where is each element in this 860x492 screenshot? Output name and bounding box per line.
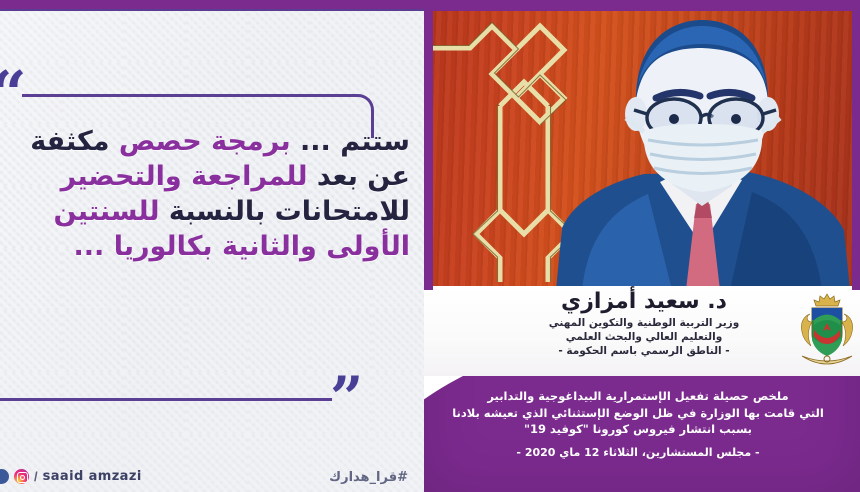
- quote-text: ستتم ... برمجة حصص مكثفة عن بعد للمراجعة…: [14, 124, 410, 264]
- portrait-top-bar: [424, 0, 860, 11]
- top-purple-bar: [0, 0, 424, 11]
- quote-line-1-seg-c: مكثفة: [30, 126, 109, 157]
- handle-separator: /: [34, 469, 38, 484]
- portrait-right-bar: [852, 0, 860, 290]
- opening-quote-icon: “: [0, 72, 23, 117]
- hashtag-label[interactable]: #قرا_هدارك: [329, 470, 408, 485]
- person-title-line-2: والتعليم العالي والبحث العلمي: [494, 330, 794, 344]
- quote-card: “ ستتم ... برمجة حصص مكثفة عن بعد للمراج…: [0, 0, 860, 492]
- quote-line-2-seg-b: للمراجعة: [191, 161, 307, 192]
- quote-line-2-seg-a: عن بعد: [317, 161, 410, 192]
- person-title-line-3: - الناطق الرسمي باسم الحكومة -: [494, 344, 794, 358]
- caption-block: ملخص حصيلة تفعيل الإستمرارية البيداغوجية…: [428, 388, 848, 459]
- portrait-panel: د. سعيد أمزازي وزير التربية الوطنية والت…: [424, 0, 860, 492]
- event-line: - مجلس المستشارين، الثلاثاء 12 ماي 2020 …: [428, 446, 848, 459]
- portrait-photo: [424, 0, 860, 290]
- quote-line-1-seg-b: برمجة حصص: [119, 126, 291, 157]
- caption-line-3: بسبب انتشار فيروس كورونا "كوفيد 19": [428, 421, 848, 438]
- person-name: د. سعيد أمزازي: [494, 288, 794, 316]
- quote-line-2: عن بعد للمراجعة والتحضير: [14, 159, 410, 194]
- name-card: د. سعيد أمزازي وزير التربية الوطنية والت…: [424, 286, 860, 376]
- closing-quote-icon: ”: [330, 378, 360, 420]
- quote-line-3-seg-a: للامتحانات بالنسبة: [169, 196, 410, 227]
- portrait-left-bar: [424, 0, 433, 290]
- morocco-coat-of-arms-icon: [796, 290, 858, 374]
- quote-line-4-seg-a: الأولى والثانية بكالوريا: [114, 231, 410, 262]
- caption-line-2: التي قامت بها الوزارة في ظل الوضع الإستث…: [428, 405, 848, 422]
- facebook-icon[interactable]: [0, 469, 9, 484]
- person-title-line-1: وزير التربية الوطنية والتكوين المهني: [494, 316, 794, 330]
- quote-line-2-seg-c: والتحضير: [61, 161, 182, 192]
- caption-line-1: ملخص حصيلة تفعيل الإستمرارية البيداغوجية…: [428, 388, 848, 405]
- quote-panel: “ ستتم ... برمجة حصص مكثفة عن بعد للمراج…: [0, 0, 424, 492]
- quote-line-1: ستتم ... برمجة حصص مكثفة: [14, 124, 410, 159]
- quote-line-1-seg-a: ستتم ...: [300, 126, 410, 157]
- person-silhouette: [552, 14, 852, 290]
- quote-line-3-seg-b: للسنتين: [54, 196, 160, 227]
- name-block: د. سعيد أمزازي وزير التربية الوطنية والت…: [494, 288, 794, 358]
- instagram-icon[interactable]: [14, 469, 29, 484]
- handle-name: saaid amzazi: [43, 469, 142, 484]
- social-handle[interactable]: / saaid amzazi: [0, 469, 142, 484]
- quote-line-4: الأولى والثانية بكالوريا ...: [14, 229, 410, 264]
- quote-bottom-rule: [0, 398, 332, 401]
- quote-line-4-seg-b: ...: [74, 231, 105, 262]
- quote-line-3: للامتحانات بالنسبة للسنتين: [14, 194, 410, 229]
